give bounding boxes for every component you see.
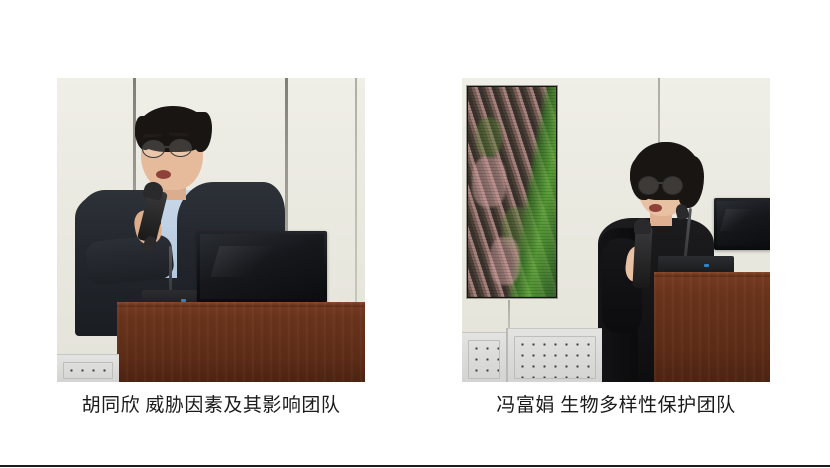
podium-wood-grain-right	[654, 272, 770, 382]
monitor-screen-glare-right	[720, 209, 758, 231]
speaker-arm-left	[85, 234, 175, 287]
mouth-left	[156, 170, 171, 179]
glasses-lens-right-right	[662, 176, 683, 195]
perforated-panel-dots-right-1	[468, 340, 500, 379]
podium-wood-grain-left	[117, 302, 365, 382]
monitor-screen-right	[717, 201, 769, 246]
screen-scanlines-right	[468, 87, 556, 297]
photo-caption-right: 冯富娟 生物多样性保护团队	[457, 390, 775, 417]
wall-seam-left-3	[355, 78, 357, 304]
glasses-bridge-right	[656, 182, 663, 184]
perforated-panel-right-1	[462, 332, 506, 382]
perforated-panel-dots-left	[63, 362, 113, 379]
podium-right	[654, 272, 770, 382]
photo-left	[57, 78, 365, 382]
handheld-mic-head-right	[634, 218, 651, 234]
laptop-screen-glare-left	[210, 246, 296, 277]
bottom-rule	[0, 465, 830, 467]
perforated-panel-right-2	[508, 328, 602, 382]
glasses-lens-right-left	[169, 139, 192, 157]
laptop-screen-left	[200, 234, 324, 299]
mouth-right	[649, 204, 662, 212]
perforated-panel-divider-right	[506, 328, 508, 382]
glasses-bridge-left	[162, 146, 170, 148]
projection-screen-right	[467, 86, 557, 298]
podium-left	[117, 302, 365, 382]
glasses-lens-left-right	[638, 176, 659, 195]
glasses-lens-left-left	[142, 140, 165, 158]
photo-right	[462, 78, 770, 382]
laptop-left	[197, 231, 327, 303]
perforated-panel-left	[57, 354, 119, 382]
photo-caption-left: 胡同欣 威胁因素及其影响团队	[52, 390, 370, 417]
perforated-panel-dots-right-2	[514, 336, 596, 379]
monitor-right	[714, 198, 770, 250]
handheld-mic-right	[632, 226, 652, 289]
projection-screen-image-right	[468, 87, 556, 297]
mic-base-led-right	[704, 264, 709, 267]
